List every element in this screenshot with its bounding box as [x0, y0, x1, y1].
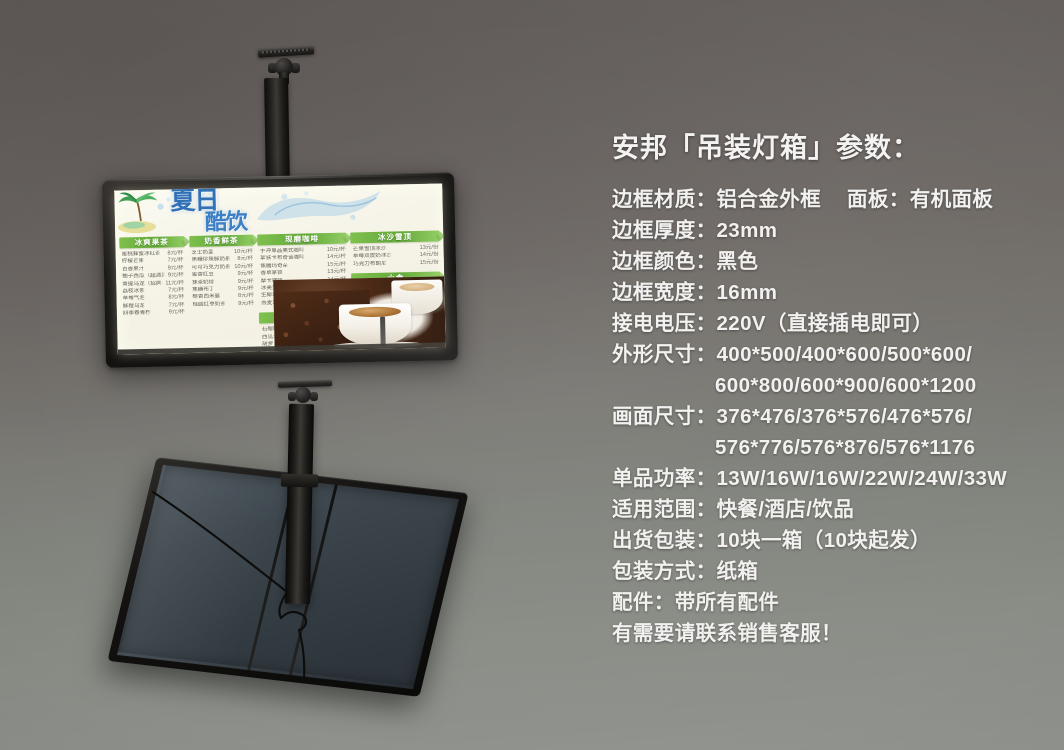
spec-panel: 安邦「吊装灯箱」参数： 边框材质：铝合金外框面板：有机面板 边框厚度：23mm … [612, 126, 1064, 649]
spec-row-graphic-size-cont: 576*776/576*876/576*1176 [612, 432, 1064, 463]
spec-value: 376*476/376*576/476*576/ [717, 405, 973, 428]
spec-value: 快餐/酒店/饮品 [717, 498, 855, 521]
bracket-wing-right-icon [310, 392, 318, 401]
spec-row-application: 适用范围：快餐/酒店/饮品 [612, 494, 1064, 525]
spec-label: 外形尺寸： [612, 343, 717, 366]
spec-row-frame-color: 边框颜色：黑色 [612, 246, 1064, 277]
spec-label: 边框厚度： [612, 219, 717, 242]
spec-row-accessories: 配件：带所有配件 [612, 587, 1064, 618]
spec-value: 23mm [717, 219, 778, 242]
spec-value: 13W/16W/16W/22W/24W/33W [717, 467, 1008, 490]
spec-row-frame-thickness: 边框厚度：23mm [612, 215, 1064, 246]
spec-label: 出货包装： [612, 529, 717, 552]
spec-row-graphic-size: 画面尺寸：376*476/376*576/476*576/ [612, 401, 1064, 432]
spec-label: 边框颜色： [612, 250, 717, 273]
spec-value: 黑色 [717, 250, 759, 273]
spec-row-shipping-pack: 出货包装：10块一箱（10块起发） [612, 525, 1064, 556]
spec-value-2: 有机面板 [910, 188, 994, 211]
spec-label: 边框材质： [612, 188, 717, 211]
pivot-ball-icon [295, 387, 311, 403]
spec-value: 铝合金外框 [717, 188, 822, 211]
spec-value: 带所有配件 [675, 591, 780, 614]
spec-label: 接电电压： [612, 312, 717, 335]
mount-tube-bottom [285, 404, 314, 604]
spec-value: 220V（直接插电即可） [717, 312, 934, 335]
spec-label: 包装方式： [612, 560, 717, 583]
spec-label: 单品功率： [612, 467, 717, 490]
spec-row-contact-cta: 有需要请联系销售客服！ [612, 618, 1064, 649]
spec-row-packing-method: 包装方式：纸箱 [612, 556, 1064, 587]
spec-label: 画面尺寸： [612, 405, 717, 428]
spec-row-frame-material: 边框材质：铝合金外框面板：有机面板 [612, 184, 1064, 215]
mount-tube-collar [281, 474, 318, 488]
spec-row-outer-size-cont: 600*800/600*900/600*1200 [612, 370, 1064, 401]
spec-row-outer-size: 外形尺寸：400*500/400*600/500*600/ [612, 339, 1064, 370]
spec-label: 适用范围： [612, 498, 717, 521]
lower-lightbox-assembly [0, 0, 520, 750]
spec-value: 纸箱 [717, 560, 759, 583]
spec-value: 有需要请联系销售客服！ [612, 622, 842, 645]
spec-label: 边框宽度： [612, 281, 717, 304]
spec-value: 16mm [717, 281, 778, 304]
spec-label-2: 面板： [847, 188, 910, 211]
spec-row-power: 单品功率：13W/16W/16W/22W/24W/33W [612, 463, 1064, 494]
spec-value: 600*800/600*900/600*1200 [715, 374, 977, 397]
spec-heading: 安邦「吊装灯箱」参数： [612, 126, 1064, 165]
spec-value: 576*776/576*876/576*1176 [715, 436, 975, 459]
spec-value: 10块一箱（10块起发） [717, 529, 931, 552]
product-photo-canvas: 夏日 酷饮 [0, 0, 1064, 750]
spec-row-frame-width: 边框宽度：16mm [612, 277, 1064, 308]
spec-row-voltage: 接电电压：220V（直接插电即可） [612, 308, 1064, 339]
spec-label: 配件： [612, 591, 675, 614]
spec-value: 400*500/400*600/500*600/ [717, 343, 973, 366]
